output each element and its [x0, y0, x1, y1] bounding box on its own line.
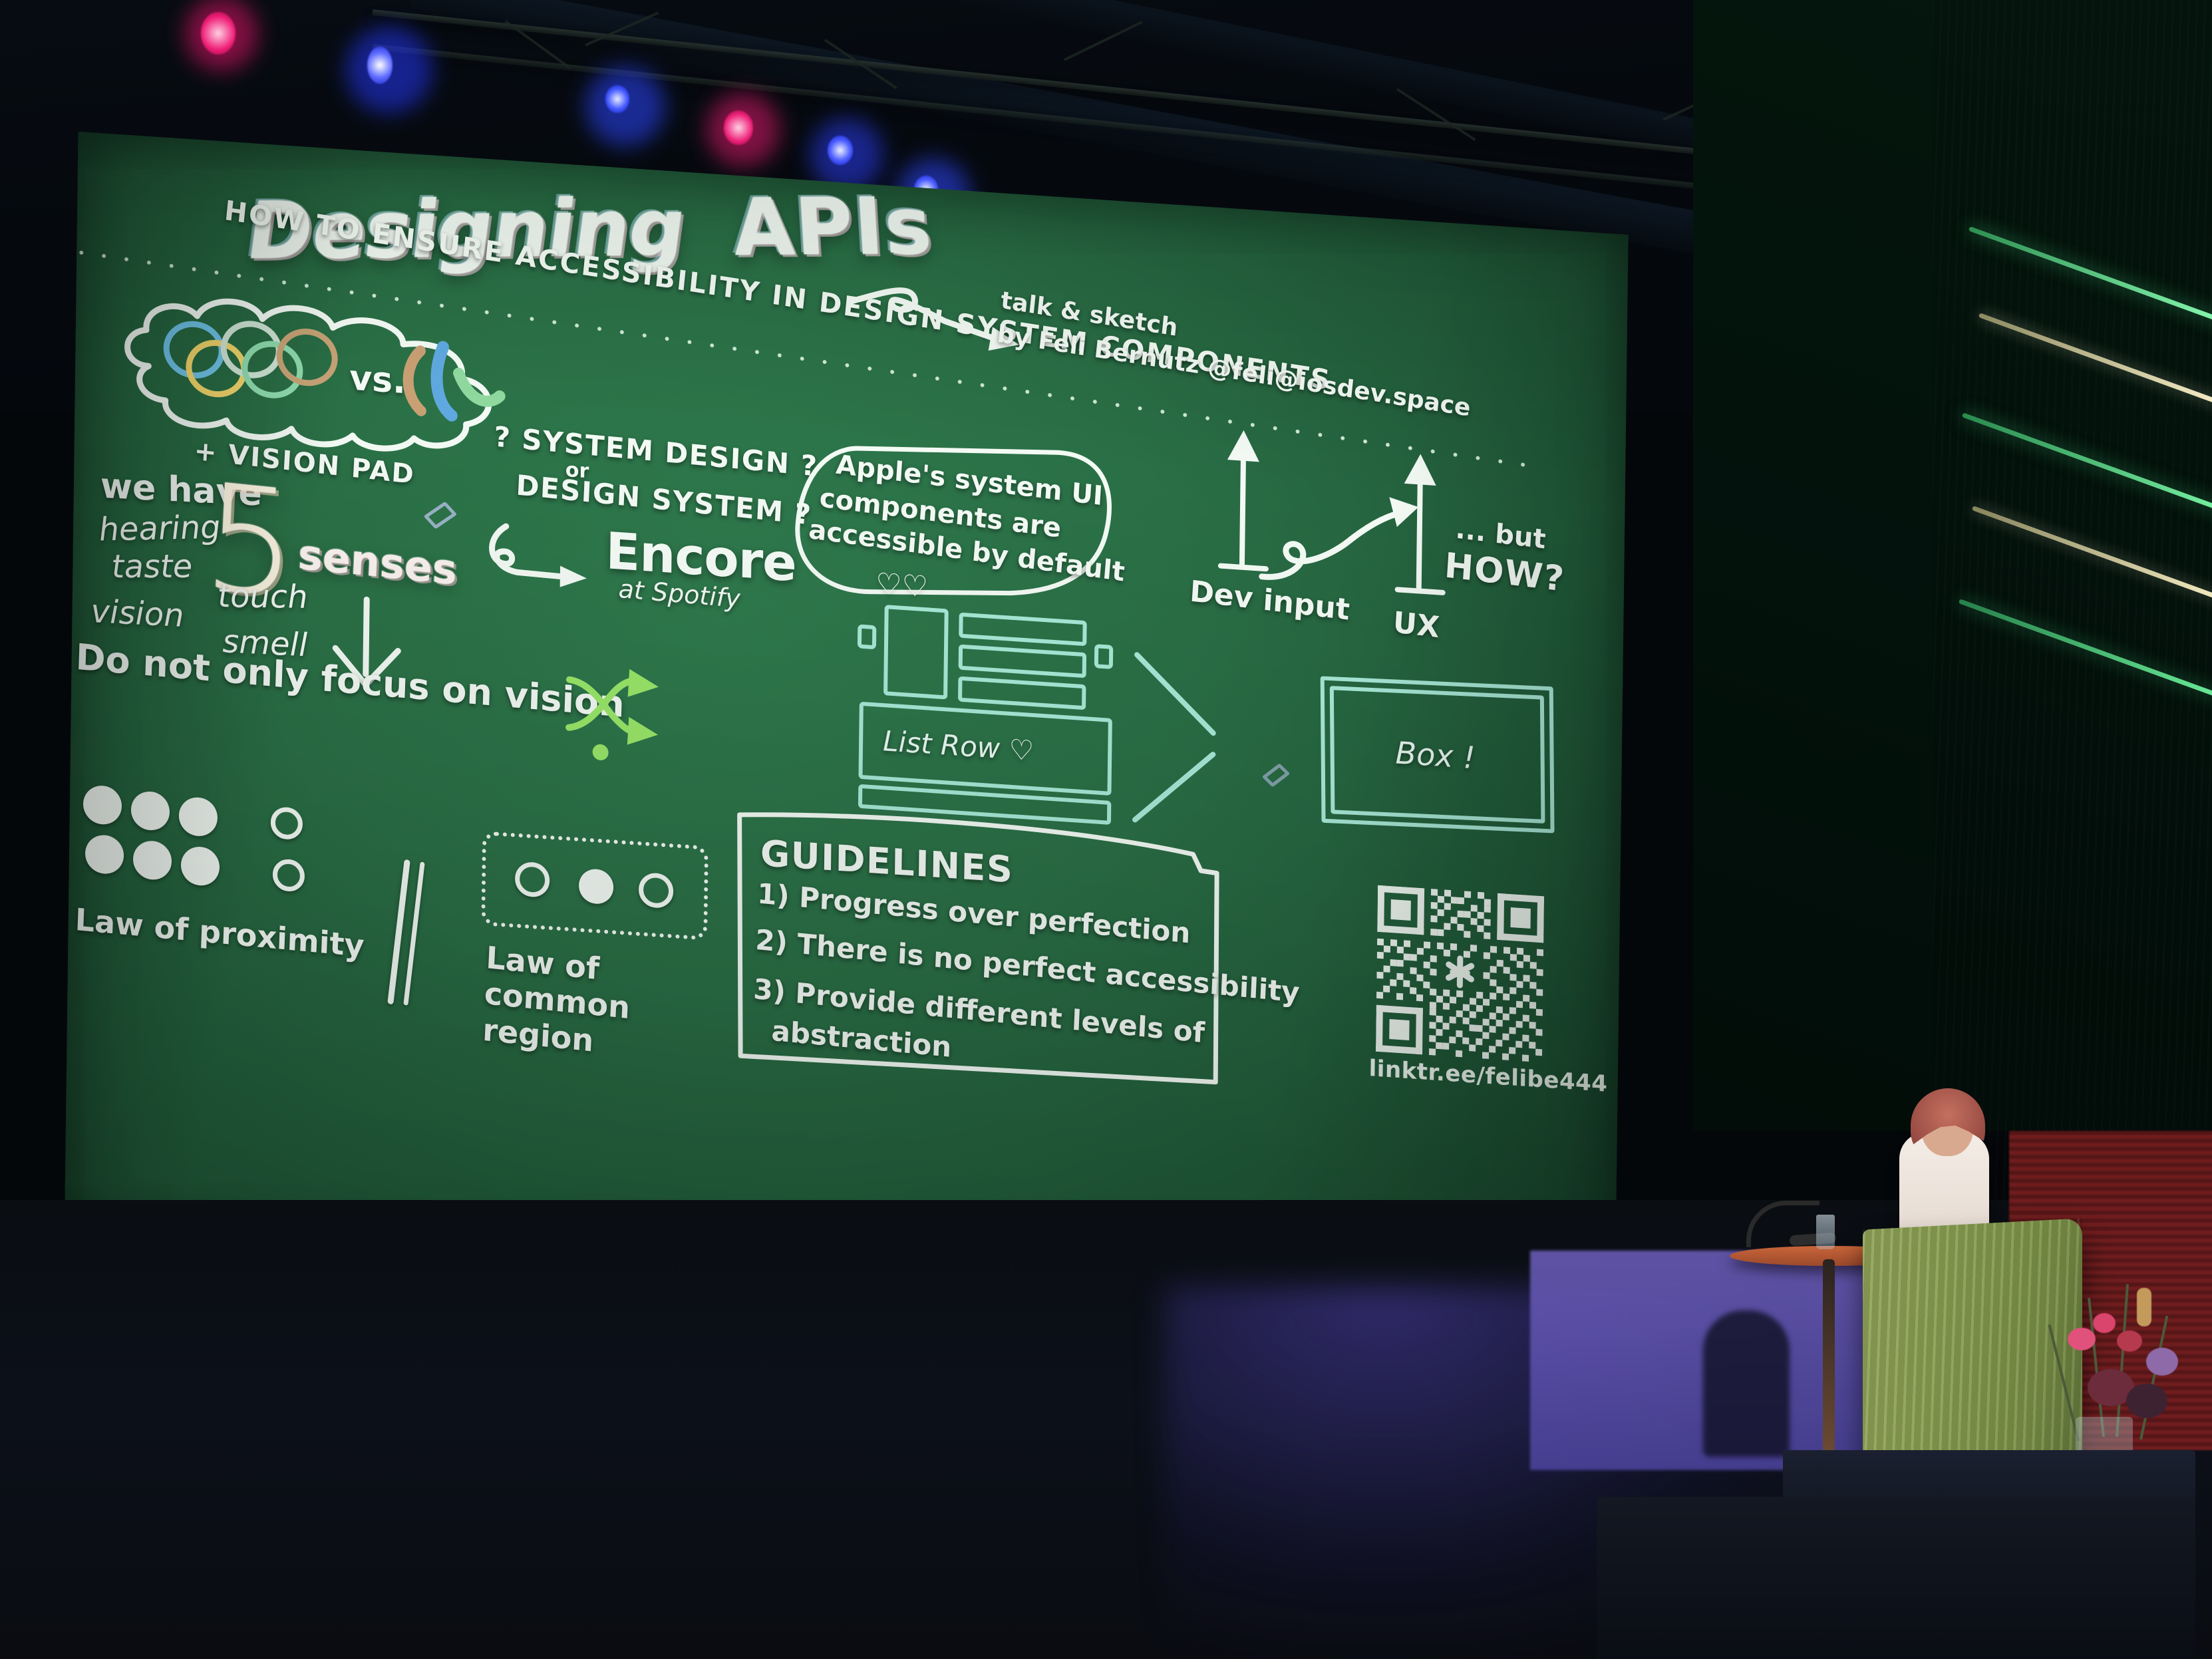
proximity-outline-dot-1: [271, 806, 303, 840]
list-row-component: List Row ♡: [856, 596, 1151, 815]
list-row-text-line-1: [959, 613, 1086, 647]
qr-code-image[interactable]: [1376, 885, 1544, 1063]
proximity-dot-4: [85, 834, 124, 875]
stage-monitor-front: [1597, 1497, 2195, 1659]
ux-label: UX: [1392, 605, 1440, 645]
but-how-line-2: HOW?: [1443, 545, 1566, 599]
flower-head-purple: [2146, 1348, 2178, 1376]
list-row-badge-right: [1094, 644, 1113, 669]
qr-caption: linktr.ee/felibe444: [1368, 1055, 1607, 1098]
sense-item-taste: taste: [110, 548, 194, 586]
vision-cloud-group: vs.: [101, 283, 529, 465]
proximity-dot-3: [179, 796, 218, 837]
box-component: Box !: [1320, 674, 1561, 843]
flower-head-red-1: [2117, 1330, 2142, 1352]
green-crossing-arrows: [563, 658, 684, 766]
sense-item-hearing: hearing: [97, 509, 222, 549]
conference-photo: Designing APIs HOW TO ENSURE ACCESSIBILI…: [0, 0, 2212, 1659]
law-of-common-region-label: Law of common region: [482, 939, 706, 1070]
flower-stem-2: [2116, 1284, 2129, 1437]
proximity-dot-1: [83, 784, 122, 826]
title-word-apis: APIs: [730, 180, 935, 273]
side-table-leg: [1823, 1259, 1835, 1452]
flower-head-pink-2: [2093, 1313, 2116, 1333]
law-of-proximity-group: Law of proximity: [81, 784, 363, 969]
flower-head-pink-1: [2068, 1328, 2096, 1350]
curly-arrow-to-encore: [486, 518, 619, 600]
list-row-to-box-connectors: [1131, 641, 1333, 854]
list-row-leading-square: [883, 605, 949, 699]
box-label: Box !: [1395, 734, 1476, 776]
flower-head-tan: [2137, 1288, 2151, 1326]
apple-bubble: Apple's system UI components are accessi…: [790, 431, 1118, 606]
law-of-proximity-label: Law of proximity: [75, 901, 365, 964]
senses-word: senses: [297, 529, 458, 594]
proximity-outline-dot-2: [273, 858, 305, 892]
paralympic-agitos: [395, 335, 516, 429]
proximity-dot-2: [131, 790, 170, 831]
flower-head-dark: [2126, 1384, 2167, 1418]
proximity-dot-6: [181, 845, 220, 887]
sense-item-touch: touch: [217, 577, 309, 616]
list-row-text-line-2: [959, 645, 1086, 679]
list-row-badge-left: [858, 624, 876, 649]
list-row-text-line-3: [958, 677, 1086, 710]
guidelines-card: GUIDELINES 1) Progress over perfection 2…: [732, 800, 1228, 1092]
water-glass: [1816, 1215, 1835, 1249]
proximity-dot-5: [133, 839, 172, 881]
law-of-common-region-group: Law of common region: [480, 831, 748, 1015]
slide-byline: talk & sketch by Feli Bernutz @feli@iosd…: [995, 283, 1476, 425]
sparkle-diamond-1: [424, 502, 458, 529]
flower-stem-4: [2139, 1316, 2168, 1440]
qr-code-group[interactable]: linktr.ee/felibe444: [1368, 885, 1571, 1111]
speaker-shadow: [1703, 1310, 1790, 1457]
sense-item-vision: vision: [91, 593, 184, 635]
slide-canvas: Designing APIs HOW TO ENSURE ACCESSIBILI…: [65, 132, 1629, 1332]
